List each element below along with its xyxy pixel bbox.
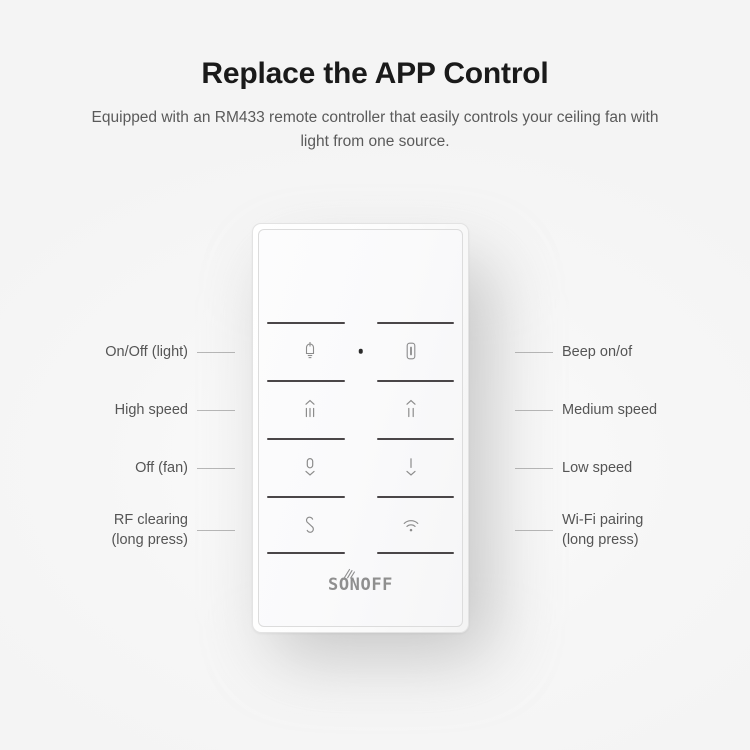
button-rf-clearing[interactable] [259,496,361,554]
fan-off-icon [297,452,323,482]
button-row-3 [259,438,462,496]
callout-beep-onoff: Beep on/of [515,343,632,363]
fan-low-speed-icon [398,452,424,482]
callout-wifi-pairing: Wi-Fi pairing (long press) [515,511,643,550]
callout-low-speed: Low speed [515,459,632,479]
callout-rf-clearing: RF clearing (long press) [111,511,235,550]
leader-line [197,352,235,353]
callout-label: High speed [115,401,188,421]
button-light-onoff[interactable] [259,322,361,380]
leader-line [197,530,235,531]
leader-line [197,468,235,469]
button-row-1 [259,322,462,380]
leader-line [515,468,553,469]
callout-label: Wi-Fi pairing (long press) [562,511,643,550]
button-fan-medium-speed[interactable] [361,380,463,438]
device-top-bezel [259,230,462,322]
callout-medium-speed: Medium speed [515,401,657,421]
callout-onoff-light: On/Off (light) [105,343,235,363]
callout-label: RF clearing (long press) [111,511,188,550]
callout-off-fan: Off (fan) [135,459,235,479]
button-beep-onoff[interactable] [361,322,463,380]
button-fan-low-speed[interactable] [361,438,463,496]
header: Replace the APP Control Equipped with an… [0,56,750,154]
leader-line [515,530,553,531]
leader-line [197,410,235,411]
callout-label: Low speed [562,459,632,479]
button-fan-high-speed[interactable] [259,380,361,438]
fan-high-speed-icon [297,394,323,424]
page-subtitle: Equipped with an RM433 remote controller… [85,106,665,154]
device-body: SONOFF [252,223,469,633]
leader-line [515,410,553,411]
wifi-icon [398,510,424,540]
callout-high-speed: High speed [115,401,235,421]
button-row-2 [259,380,462,438]
rf-clearing-icon [297,510,323,540]
button-wifi-pairing[interactable] [361,496,463,554]
page-title: Replace the APP Control [0,56,750,92]
signal-waves-icon [343,568,356,579]
callout-label: Medium speed [562,401,657,421]
sonoff-logo: SONOFF [328,575,393,595]
light-bulb-icon [297,336,323,366]
device-faceplate: SONOFF [258,229,463,627]
remote-controller: SONOFF [252,223,469,633]
button-grid [259,322,462,554]
brand-area: SONOFF [259,554,462,616]
callout-label: Off (fan) [135,459,188,479]
callout-label: On/Off (light) [105,343,188,363]
fan-medium-speed-icon [398,394,424,424]
brand-text: SONOFF [328,575,393,595]
callout-label: Beep on/of [562,343,632,363]
button-fan-off[interactable] [259,438,361,496]
beep-speaker-icon [398,336,424,366]
button-row-4 [259,496,462,554]
leader-line [515,352,553,353]
